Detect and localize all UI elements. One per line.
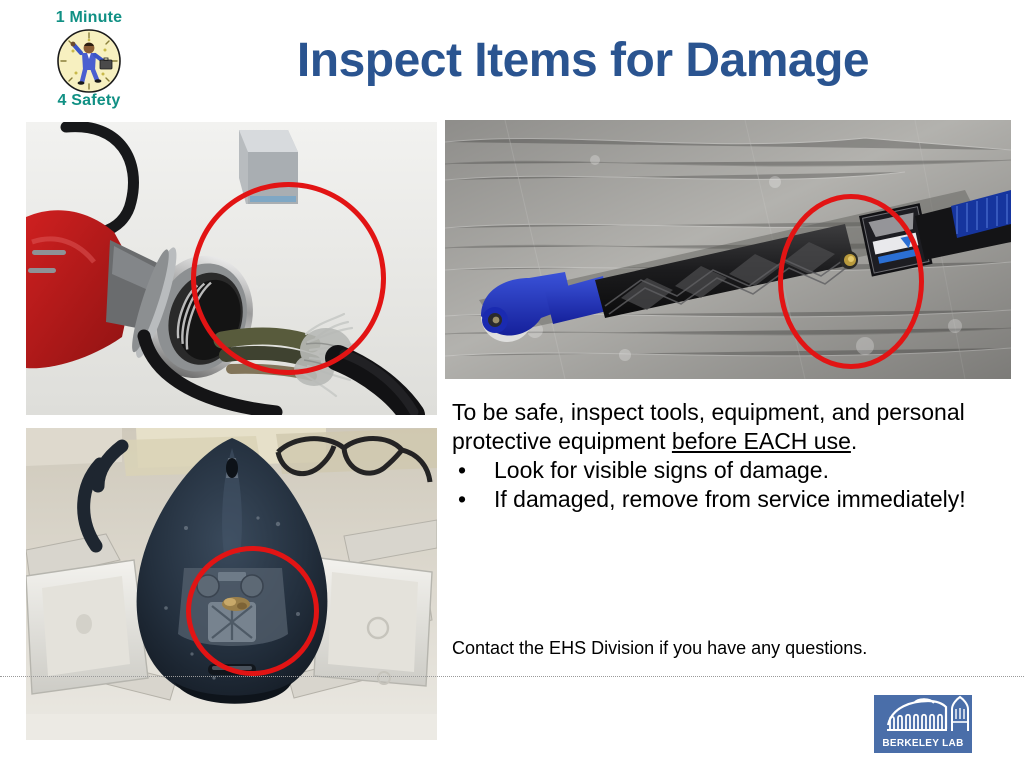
damaged-tool-handle-photo — [445, 120, 1011, 379]
bullet-marker-icon: • — [458, 456, 466, 485]
logo-top-text: 1 Minute — [30, 9, 148, 27]
bullet-marker-icon: • — [458, 485, 466, 514]
damaged-respirator-photo — [26, 428, 437, 740]
damage-highlight-circle — [186, 546, 319, 676]
lede-paragraph: To be safe, inspect tools, equipment, an… — [452, 398, 997, 456]
body-text-block: To be safe, inspect tools, equipment, an… — [452, 398, 997, 514]
list-item-label: Look for visible signs of damage. — [494, 457, 829, 483]
damage-highlight-circle — [191, 182, 386, 375]
footer-divider — [0, 676, 1024, 677]
clock-with-running-businessman-icon — [56, 28, 122, 94]
list-item: • If damaged, remove from service immedi… — [452, 485, 997, 514]
safety-program-logo: 1 Minute — [30, 4, 148, 116]
logo-bottom-text: 4 Safety — [30, 92, 148, 110]
inspection-bullet-list: • Look for visible signs of damage. • If… — [452, 456, 997, 514]
berkeley-lab-dome-icon — [874, 695, 972, 739]
berkeley-lab-wordmark: BERKELEY LAB — [874, 738, 972, 749]
berkeley-lab-logo: BERKELEY LAB — [874, 695, 972, 753]
list-item: • Look for visible signs of damage. — [452, 456, 997, 485]
list-item-label: If damaged, remove from service immediat… — [494, 486, 966, 512]
page-title: Inspect Items for Damage — [160, 34, 1006, 88]
contact-note: Contact the EHS Division if you have any… — [452, 637, 867, 659]
lede-underlined-phrase: before EACH use — [672, 428, 851, 454]
lede-part-2: . — [851, 428, 857, 454]
damaged-power-cord-photo — [26, 122, 437, 415]
damage-highlight-circle — [778, 194, 924, 369]
